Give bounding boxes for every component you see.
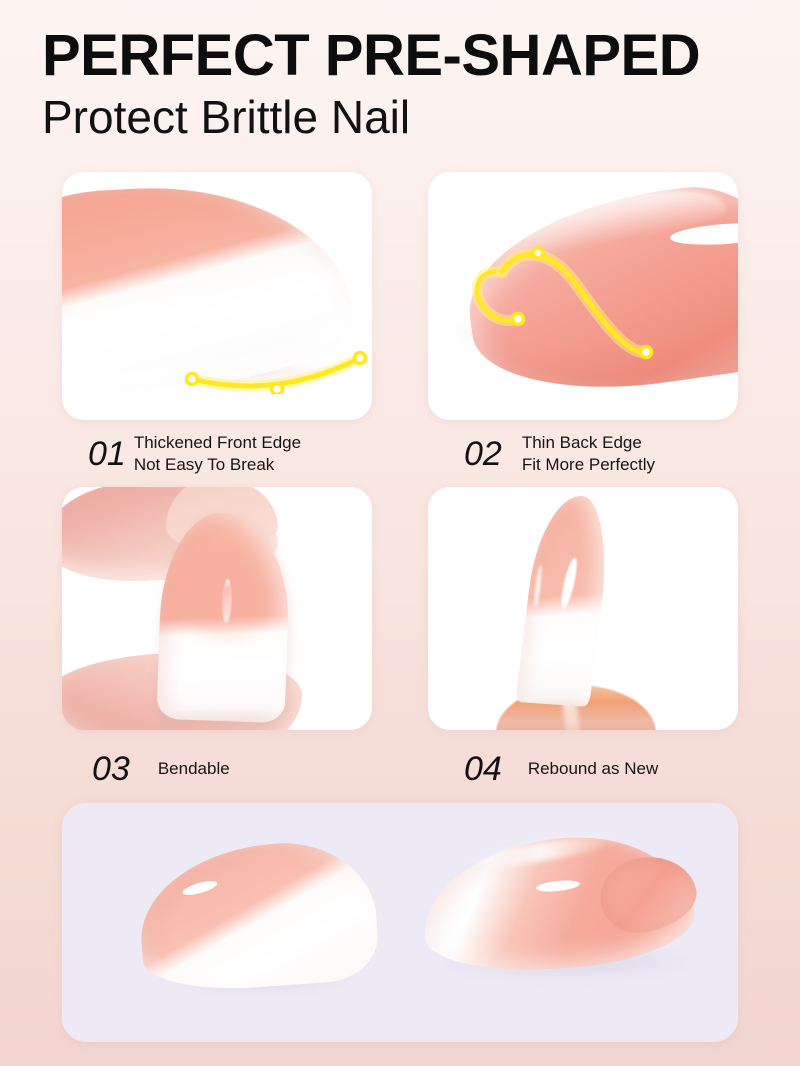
nail-gloss-highlight xyxy=(558,557,580,610)
feature-card-03 xyxy=(62,487,372,730)
caption-number: 01 xyxy=(88,437,126,471)
feature-card-01 xyxy=(62,172,372,420)
caption-label: Rebound as New xyxy=(528,758,658,780)
caption-number: 04 xyxy=(464,752,502,786)
scene-fingers-bending-nail-tip xyxy=(62,487,372,730)
feature-card-02 xyxy=(428,172,738,420)
caption-03: 03 Bendable xyxy=(92,752,230,786)
page-title-secondary: Protect Brittle Nail xyxy=(42,92,772,144)
caption-label: Thin Back Edge Fit More Perfectly xyxy=(522,432,655,476)
caption-02: 02 Thin Back Edge Fit More Perfectly xyxy=(464,432,655,476)
rebounded-nail-tip xyxy=(515,493,614,707)
nail-gloss-highlight xyxy=(181,878,218,898)
thickness-highlight-arc-icon xyxy=(182,344,372,394)
caption-number: 02 xyxy=(464,437,502,471)
feature-card-04 xyxy=(428,487,738,730)
scene-nail-front-edge-closeup xyxy=(62,172,372,420)
page-title-primary: PERFECT PRE-SHAPED xyxy=(42,26,772,86)
caption-04: 04 Rebound as New xyxy=(464,752,658,786)
feature-card-05: 05 Suitable For Curved & Flat Nail Surfa… xyxy=(62,803,738,1042)
nail-smile-line xyxy=(165,581,287,647)
page-title: PERFECT PRE-SHAPED Protect Brittle Nail xyxy=(42,26,772,144)
thinness-highlight-s-curve-icon xyxy=(458,240,708,380)
caption-01: 01 Thickened Front Edge Not Easy To Brea… xyxy=(88,432,301,476)
caption-label: Thickened Front Edge Not Easy To Break xyxy=(134,432,301,476)
caption-label: Bendable xyxy=(158,758,230,780)
scene-nail-tip-standing-upright xyxy=(428,487,738,730)
product-feature-infographic: PERFECT PRE-SHAPED Protect Brittle Nail xyxy=(0,0,800,1066)
scene-nail-back-edge-closeup xyxy=(428,172,738,420)
curved-nail-tip xyxy=(135,837,380,995)
scene-two-nail-tips-curved-and-flat xyxy=(62,803,738,1042)
nail-edge-highlight xyxy=(533,565,543,607)
caption-number: 03 xyxy=(92,752,130,786)
